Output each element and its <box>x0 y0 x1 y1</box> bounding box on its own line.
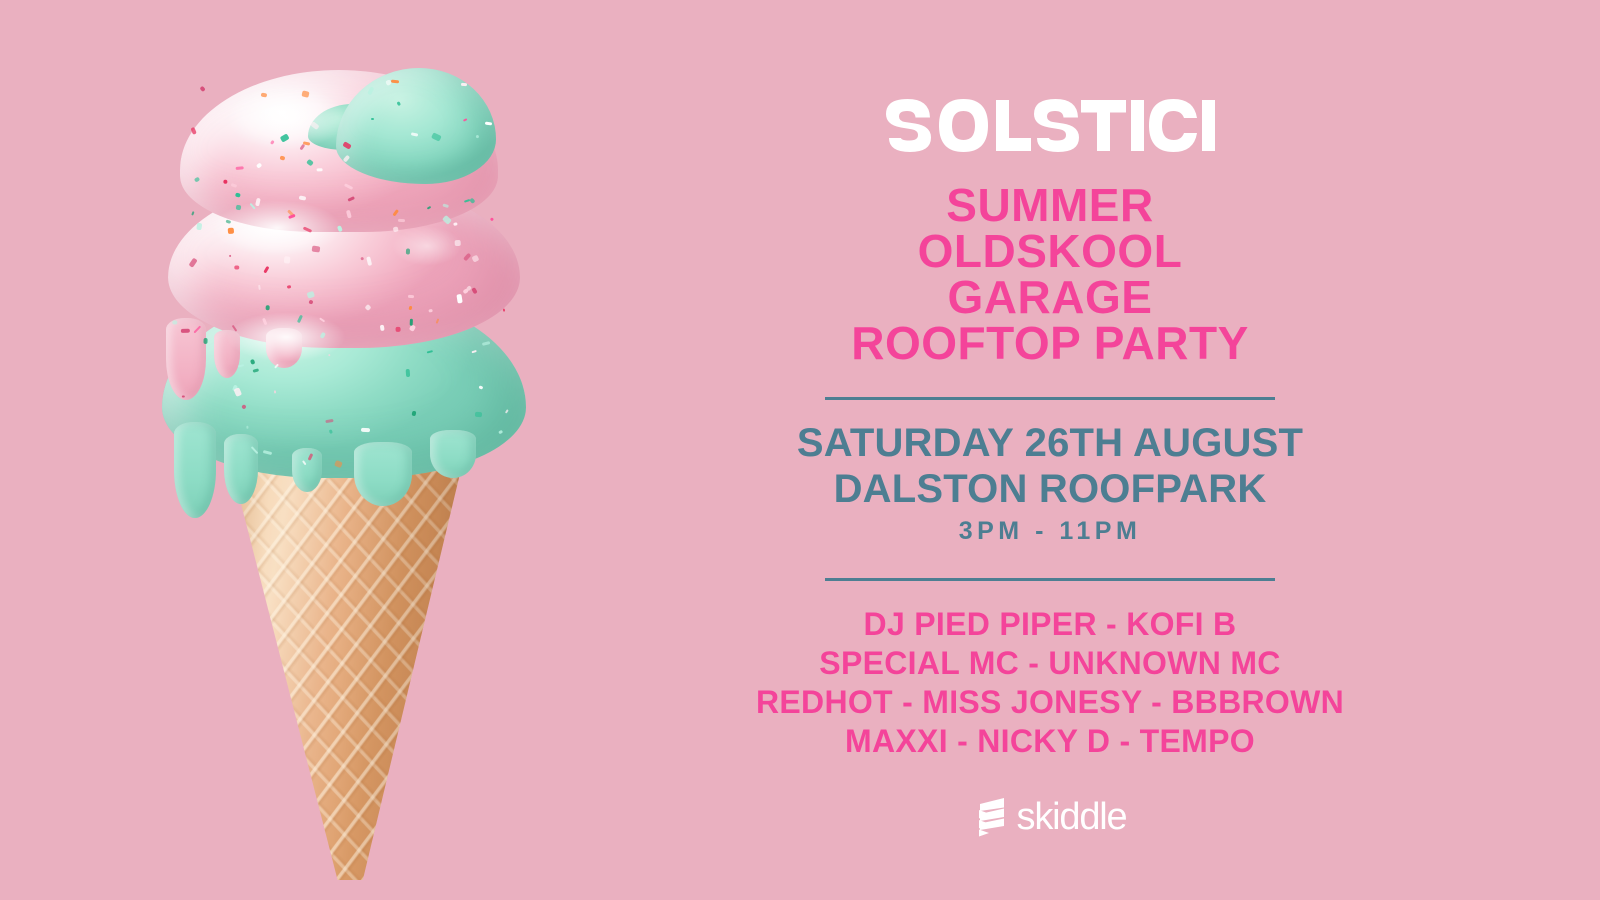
solstice-logo <box>885 94 1215 156</box>
sprinkle <box>432 132 442 141</box>
sprinkle <box>225 219 231 223</box>
sprinkle <box>253 368 259 372</box>
sprinkle <box>392 209 399 217</box>
sprinkle <box>235 167 243 170</box>
sprinkle <box>462 288 469 294</box>
sprinkle <box>456 294 463 304</box>
sprinkle <box>410 319 413 326</box>
lineup-line-3: REDHOT - MISS JONESY - BBBROWN <box>756 683 1344 722</box>
sprinkle <box>490 217 494 221</box>
sprinkle <box>498 430 503 435</box>
sprinkle <box>299 195 306 200</box>
sprinkle <box>472 255 479 262</box>
sprinkle <box>200 86 207 93</box>
lineup-line-4: MAXXI - NICKY D - TEMPO <box>756 722 1344 761</box>
sprinkle <box>435 319 439 324</box>
sprinkle <box>406 369 410 377</box>
sprinkle <box>286 285 291 289</box>
sprinkle <box>250 359 256 365</box>
headline: SUMMER OLDSKOOL GARAGE ROOFTOP PARTY <box>851 182 1249 366</box>
sprinkle <box>410 133 418 138</box>
sprinkle <box>326 420 334 424</box>
sprinkle <box>475 411 482 416</box>
sprinkle <box>411 410 416 415</box>
sprinkle <box>408 305 412 309</box>
headline-line-3: GARAGE <box>851 274 1249 320</box>
sprinkle <box>263 266 269 273</box>
sprinkle <box>312 245 320 252</box>
sprinkle <box>228 227 234 234</box>
sprinkle <box>261 93 267 97</box>
sprinkle <box>329 429 333 433</box>
sprinkle <box>265 305 269 311</box>
ice-cream-cone-illustration <box>140 30 540 880</box>
sprinkle <box>309 299 314 304</box>
sprinkle <box>302 460 307 466</box>
sprinkle <box>251 446 259 454</box>
sprinkle <box>370 118 373 120</box>
poster-text-panel: SUMMER OLDSKOOL GARAGE ROOFTOP PARTY SAT… <box>740 0 1360 900</box>
sprinkle <box>427 350 433 353</box>
divider-bottom <box>825 578 1275 581</box>
sprinkle <box>328 354 331 356</box>
ice-cream-artwork <box>0 0 720 900</box>
sprinkle <box>367 86 374 95</box>
sprinkle <box>360 428 369 433</box>
sprinkle <box>194 325 202 333</box>
sprinkle <box>397 101 401 105</box>
sprinkle <box>463 253 472 262</box>
sprinkle <box>385 80 392 87</box>
sprinkle <box>230 183 237 187</box>
sprinkle <box>194 177 200 183</box>
sprinkle <box>453 222 458 226</box>
sprinkle <box>287 214 295 219</box>
event-date: SATURDAY 26TH AUGUST <box>797 420 1303 466</box>
event-venue: DALSTON ROOFPARK <box>797 466 1303 512</box>
sprinkle <box>455 239 461 245</box>
sprinkle <box>280 134 290 143</box>
sprinkle <box>348 196 355 202</box>
sprinkle <box>479 386 484 390</box>
sprinkle <box>274 390 276 394</box>
sprinkle <box>396 327 401 332</box>
sprinkle <box>285 256 291 263</box>
sprinkle <box>223 179 228 183</box>
sprinkle <box>270 140 275 145</box>
sprinkle <box>297 314 303 322</box>
sprinkle <box>379 324 384 331</box>
sprinkle <box>398 219 405 222</box>
sprinkle <box>346 210 352 218</box>
sprinkle <box>408 295 414 299</box>
sprinkle <box>310 121 319 129</box>
sprinkle <box>234 387 242 396</box>
sprinkle <box>235 204 241 210</box>
event-time: 3PM - 11PM <box>797 512 1303 550</box>
sprinkles-layer <box>140 30 540 880</box>
sprinkle <box>361 257 365 261</box>
sprinkle <box>342 141 352 150</box>
sprinkle <box>343 155 350 163</box>
sprinkle <box>319 332 325 339</box>
sprinkle <box>427 206 431 210</box>
sprinkle <box>502 309 504 312</box>
sprinkle <box>344 183 353 190</box>
sprinkle <box>307 453 313 460</box>
sprinkle <box>234 266 240 270</box>
sprinkle <box>182 396 185 398</box>
sprinkle <box>258 285 261 290</box>
sprinkle <box>463 118 468 122</box>
sprinkle <box>442 204 449 209</box>
headline-line-2: OLDSKOOL <box>851 228 1249 274</box>
sprinkle <box>241 404 246 410</box>
sprinkle <box>246 425 248 428</box>
lineup-line-1: DJ PIED PIPER - KOFI B <box>756 605 1344 644</box>
sprinkle <box>391 79 400 83</box>
sprinkle <box>366 256 372 265</box>
sprinkle <box>303 226 312 232</box>
sprinkle <box>337 226 343 233</box>
sprinkle <box>317 168 323 171</box>
sprinkle <box>261 318 267 326</box>
sprinkle <box>181 329 190 333</box>
sprinkle <box>172 320 177 324</box>
sprinkle <box>301 90 309 97</box>
sprinkle <box>307 291 316 299</box>
sprinkle <box>482 341 491 346</box>
sprinkle <box>334 460 342 468</box>
sprinkle <box>505 409 509 413</box>
divider-top <box>825 397 1275 400</box>
sprinkle <box>255 198 261 207</box>
event-details: SATURDAY 26TH AUGUST DALSTON ROOFPARK 3P… <box>797 420 1303 550</box>
sprinkle <box>476 134 480 138</box>
sprinkle <box>319 317 325 322</box>
lineup: DJ PIED PIPER - KOFI B SPECIAL MC - UNKN… <box>756 605 1344 761</box>
sprinkle <box>392 226 398 232</box>
headline-line-4: ROOFTOP PARTY <box>851 320 1249 366</box>
sprinkle <box>231 325 237 332</box>
lineup-line-2: SPECIAL MC - UNKNOWN MC <box>756 644 1344 683</box>
sprinkle <box>443 215 453 225</box>
sprinkle <box>235 193 240 198</box>
sprinkle <box>471 350 477 353</box>
sprinkle <box>484 122 491 126</box>
skiddle-logo[interactable]: skiddle <box>974 797 1127 837</box>
sprinkle <box>461 82 467 86</box>
sprinkle <box>470 198 476 204</box>
sprinkle <box>364 304 371 311</box>
sprinkle <box>238 364 244 368</box>
sprinkle <box>274 363 279 368</box>
sprinkle <box>306 159 314 167</box>
sprinkle <box>262 450 271 455</box>
sprinkle <box>428 309 432 313</box>
sprinkle <box>191 211 194 215</box>
sprinkle <box>280 155 285 160</box>
event-poster: SUMMER OLDSKOOL GARAGE ROOFTOP PARTY SAT… <box>0 0 1600 900</box>
skiddle-flag-icon <box>974 797 1008 837</box>
sprinkle <box>249 202 255 209</box>
sprinkle <box>406 249 410 256</box>
sprinkle <box>471 287 477 294</box>
sprinkle <box>204 338 208 344</box>
headline-line-1: SUMMER <box>851 182 1249 228</box>
sprinkle <box>189 257 198 267</box>
sprinkle <box>229 255 232 258</box>
sprinkle <box>190 127 197 135</box>
skiddle-wordmark: skiddle <box>1017 798 1127 836</box>
sprinkle <box>196 223 202 230</box>
sprinkle <box>256 162 263 168</box>
